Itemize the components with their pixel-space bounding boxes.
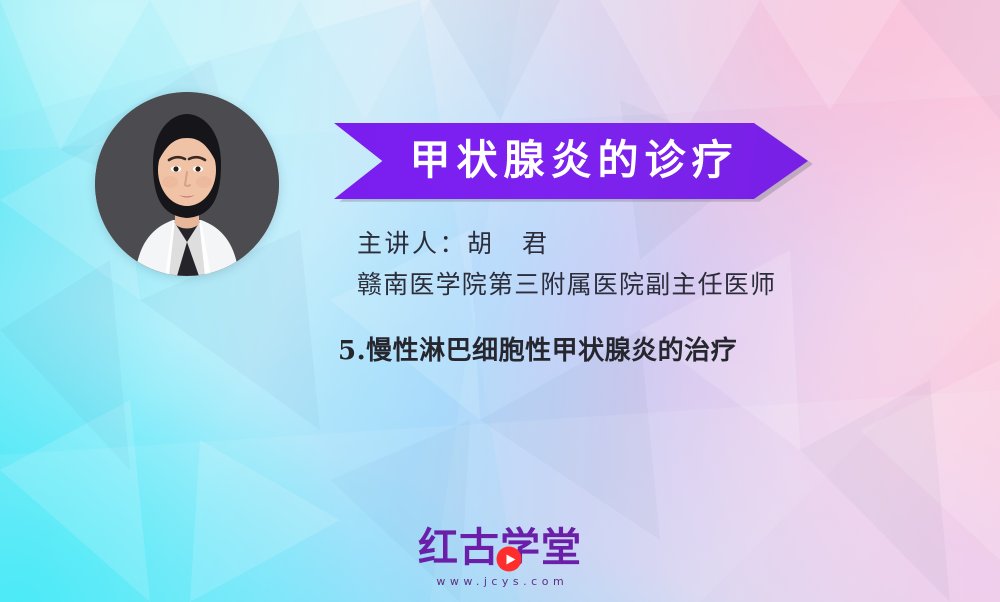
slide-title: 甲状腺炎的诊疗 [404, 140, 739, 183]
section-heading: 5.慢性淋巴细胞性甲状腺炎的治疗 [338, 330, 737, 367]
brand-logo: 红古学堂 www.jcys.com [0, 526, 1000, 588]
play-triangle-icon [506, 554, 515, 564]
logo-url: www.jcys.com [432, 575, 568, 588]
speaker-portrait [95, 92, 279, 276]
speaker-info: 主讲人：胡 君 赣南医学院第三附属医院副主任医师 [357, 224, 776, 306]
logo-mark: 红古学堂 [418, 526, 582, 570]
title-banner: 甲状腺炎的诊疗 [334, 123, 808, 199]
presenter-affiliation-line: 赣南医学院第三附属医院副主任医师 [357, 265, 776, 306]
presentation-slide: 甲状腺炎的诊疗 主讲人：胡 君 赣南医学院第三附属医院副主任医师 5.慢性淋巴细… [0, 0, 1000, 602]
presenter-name-line: 主讲人：胡 君 [357, 224, 776, 265]
play-circle-icon [497, 547, 522, 572]
